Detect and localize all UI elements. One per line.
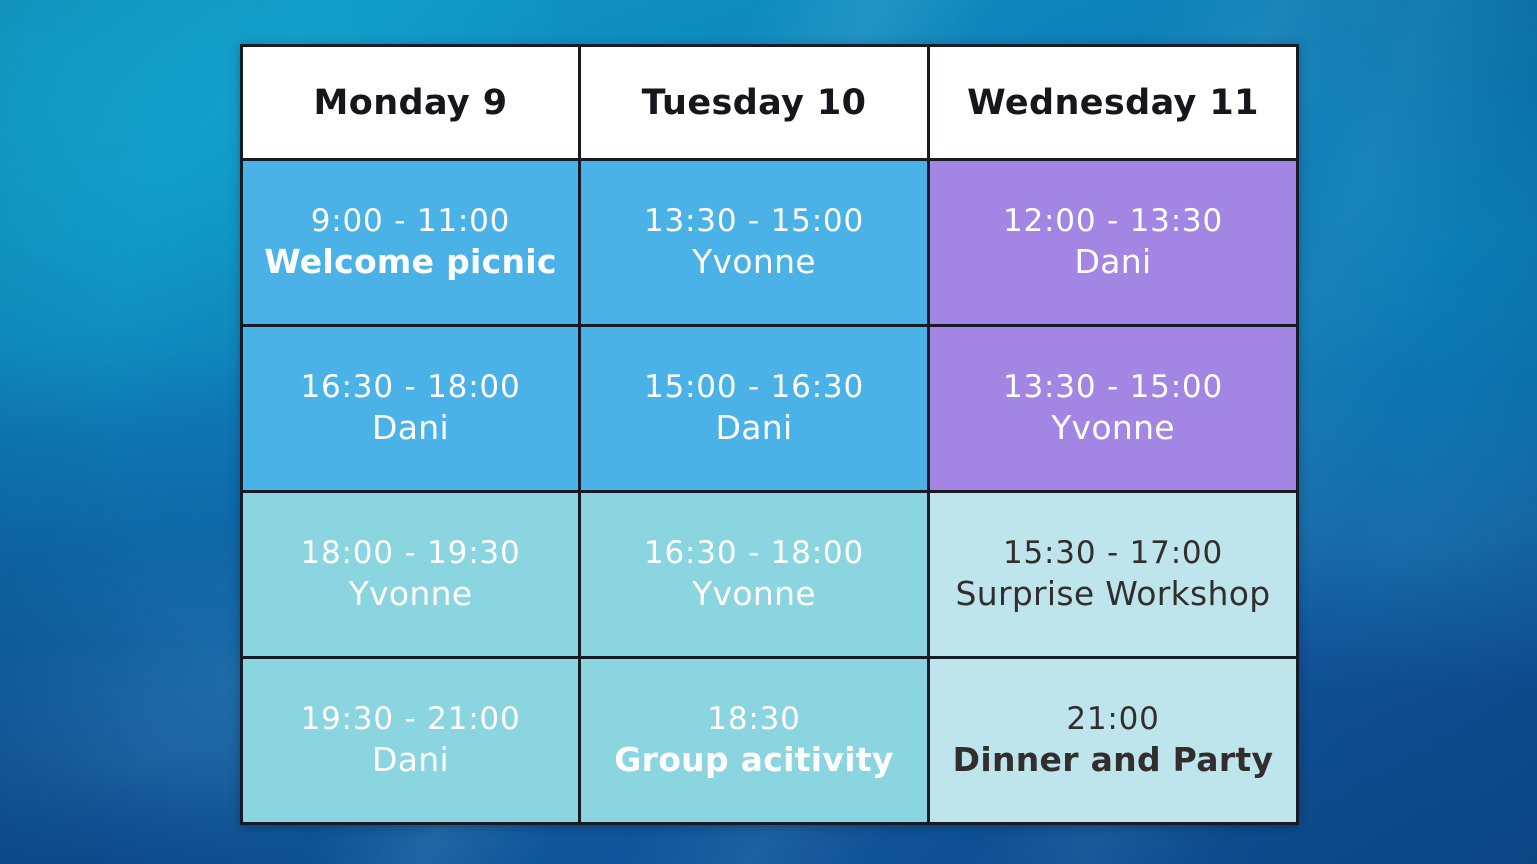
day-label-wednesday: Wednesday 11 <box>930 83 1296 123</box>
event-title: Group acitivity <box>614 742 893 778</box>
schedule-cell[interactable]: 18:30 Group acitivity <box>580 658 929 824</box>
schedule-cell[interactable]: 12:00 - 13:30 Dani <box>929 160 1298 326</box>
schedule-cell[interactable]: 13:30 - 15:00 Yvonne <box>929 326 1298 492</box>
event-title: Dinner and Party <box>953 742 1274 778</box>
header-row: Monday 9 Tuesday 10 Wednesday 11 <box>242 46 1298 160</box>
day-label-monday: Monday 9 <box>243 83 578 123</box>
table-row: 16:30 - 18:00 Dani 15:00 - 16:30 Dani 13… <box>242 326 1298 492</box>
schedule-cell[interactable]: 18:00 - 19:30 Yvonne <box>242 492 580 658</box>
schedule-cell[interactable]: 15:30 - 17:00 Surprise Workshop <box>929 492 1298 658</box>
schedule-cell[interactable]: 16:30 - 18:00 Yvonne <box>580 492 929 658</box>
event-title: Dani <box>1075 244 1152 280</box>
day-label-tuesday: Tuesday 10 <box>581 83 927 123</box>
schedule-cell[interactable]: 13:30 - 15:00 Yvonne <box>580 160 929 326</box>
event-time: 21:00 <box>1066 703 1159 736</box>
schedule-table: Monday 9 Tuesday 10 Wednesday 11 9:00 - … <box>240 44 1299 825</box>
schedule-page: Monday 9 Tuesday 10 Wednesday 11 9:00 - … <box>0 0 1537 864</box>
event-title: Yvonne <box>349 576 473 612</box>
event-title: Yvonne <box>1051 410 1175 446</box>
table-row: 19:30 - 21:00 Dani 18:30 Group acitivity… <box>242 658 1298 824</box>
event-time: 15:30 - 17:00 <box>1003 537 1223 570</box>
event-title: Dani <box>716 410 793 446</box>
table-row: 9:00 - 11:00 Welcome picnic 13:30 - 15:0… <box>242 160 1298 326</box>
event-time: 16:30 - 18:00 <box>301 371 521 404</box>
schedule-cell[interactable]: 21:00 Dinner and Party <box>929 658 1298 824</box>
table-row: 18:00 - 19:30 Yvonne 16:30 - 18:00 Yvonn… <box>242 492 1298 658</box>
schedule-cell[interactable]: 15:00 - 16:30 Dani <box>580 326 929 492</box>
event-time: 12:00 - 13:30 <box>1003 205 1223 238</box>
schedule-cell[interactable]: 16:30 - 18:00 Dani <box>242 326 580 492</box>
event-title: Yvonne <box>692 576 816 612</box>
event-title: Dani <box>372 742 449 778</box>
event-time: 15:00 - 16:30 <box>644 371 864 404</box>
column-header-tuesday: Tuesday 10 <box>580 46 929 160</box>
event-title: Surprise Workshop <box>955 576 1270 612</box>
event-time: 9:00 - 11:00 <box>311 205 510 238</box>
table-body: 9:00 - 11:00 Welcome picnic 13:30 - 15:0… <box>242 160 1298 824</box>
column-header-monday: Monday 9 <box>242 46 580 160</box>
table-header: Monday 9 Tuesday 10 Wednesday 11 <box>242 46 1298 160</box>
event-time: 19:30 - 21:00 <box>301 703 521 736</box>
event-time: 16:30 - 18:00 <box>644 537 864 570</box>
event-title: Yvonne <box>692 244 816 280</box>
event-title: Dani <box>372 410 449 446</box>
event-time: 18:30 <box>707 703 800 736</box>
event-title: Welcome picnic <box>264 244 556 280</box>
column-header-wednesday: Wednesday 11 <box>929 46 1298 160</box>
schedule-cell[interactable]: 9:00 - 11:00 Welcome picnic <box>242 160 580 326</box>
event-time: 13:30 - 15:00 <box>1003 371 1223 404</box>
schedule-cell[interactable]: 19:30 - 21:00 Dani <box>242 658 580 824</box>
event-time: 18:00 - 19:30 <box>301 537 521 570</box>
event-time: 13:30 - 15:00 <box>644 205 864 238</box>
